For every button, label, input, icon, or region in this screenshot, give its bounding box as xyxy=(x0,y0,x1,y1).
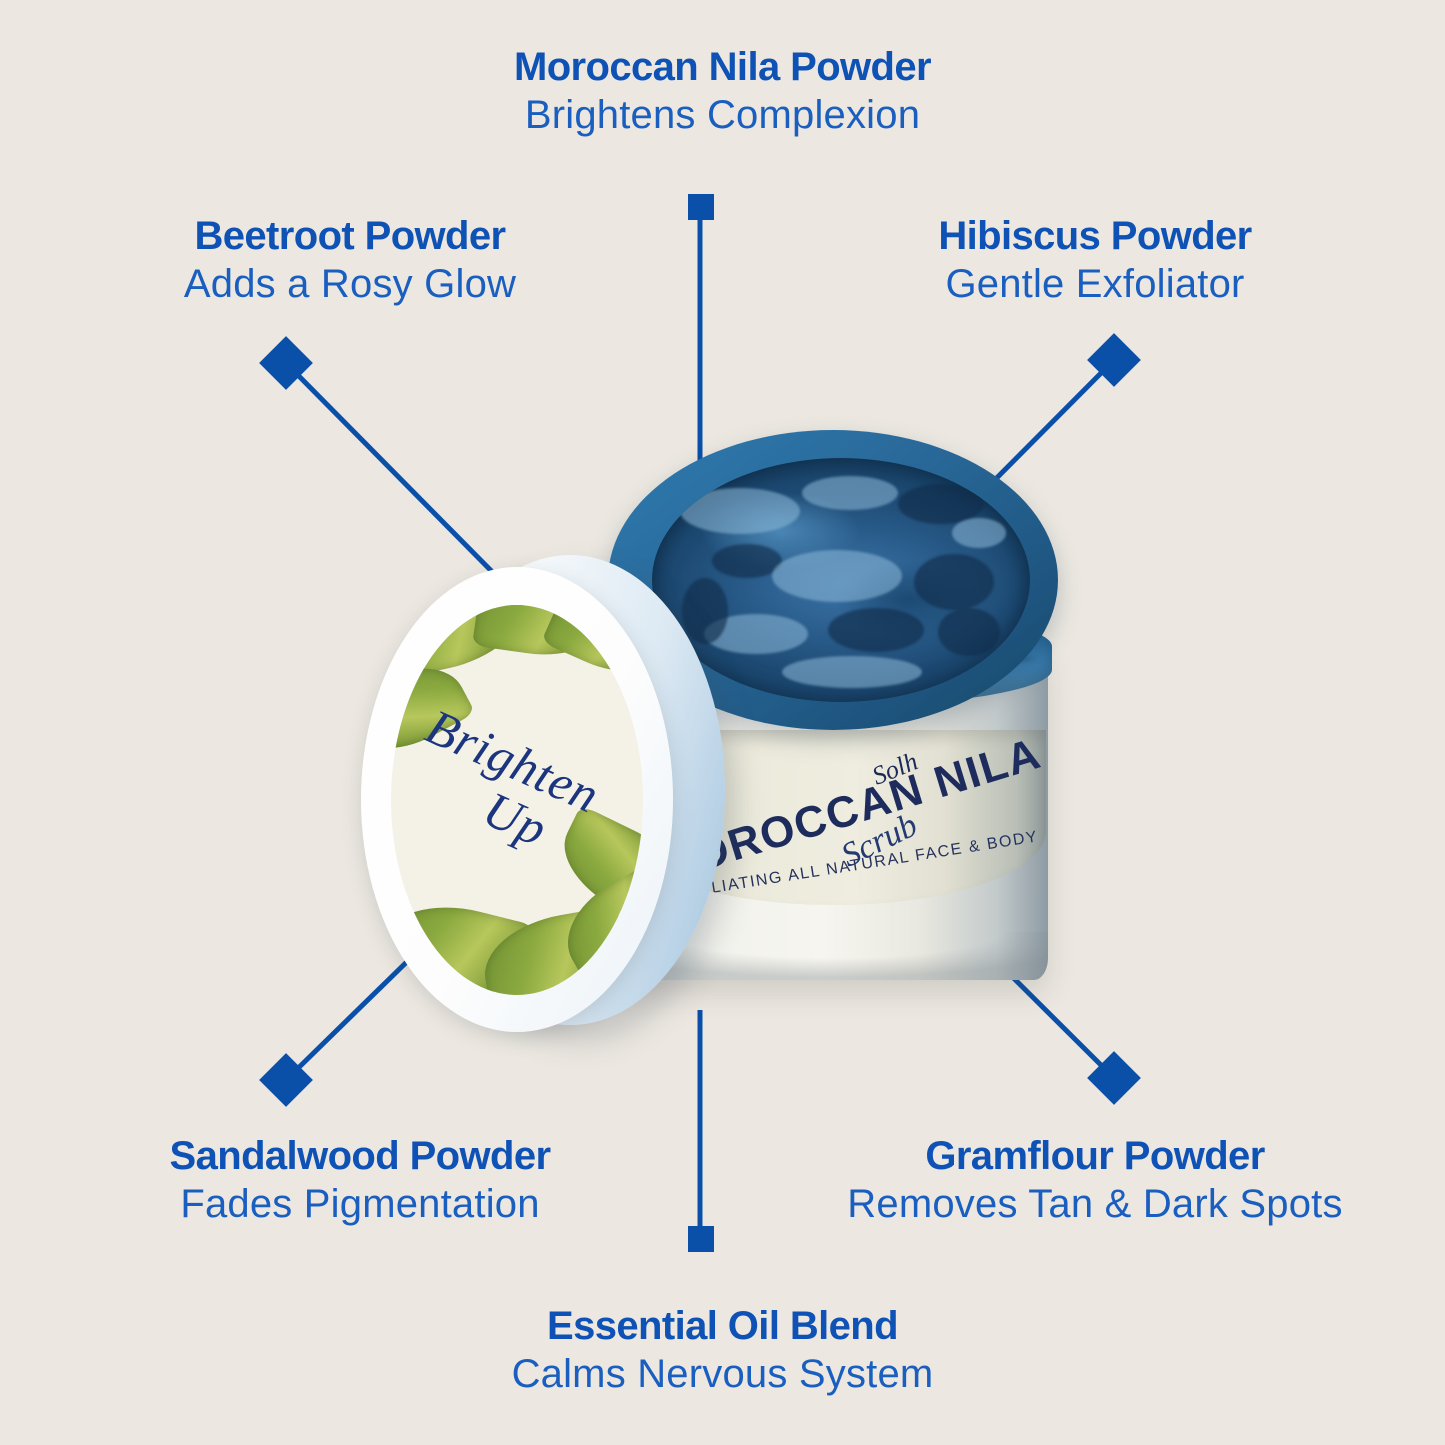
callout-sandalwood-powder: Sandalwood Powder Fades Pigmentation xyxy=(40,1135,680,1229)
connector-marker-gramflour xyxy=(1087,1051,1141,1105)
callout-title: Beetroot Powder xyxy=(50,215,650,258)
callout-title: Moroccan Nila Powder xyxy=(514,46,931,89)
callout-hibiscus-powder: Hibiscus Powder Gentle Exfoliator xyxy=(795,215,1395,309)
callout-title: Hibiscus Powder xyxy=(795,215,1395,258)
leaf-icon xyxy=(547,805,643,936)
jar-rim xyxy=(608,430,1058,730)
leaf-icon xyxy=(477,905,631,995)
infographic-canvas: Solh MOROCCAN NILA Scrub EXFOLIATING ALL… xyxy=(0,0,1445,1445)
leaf-icon xyxy=(391,890,537,995)
callout-subtitle: Brightens Complexion xyxy=(514,91,931,140)
jar-product-name: MOROCCAN NILA xyxy=(651,730,1046,893)
callout-subtitle: Calms Nervous System xyxy=(512,1350,934,1399)
connector-marker-nila xyxy=(688,194,714,220)
connector-line-hibiscus xyxy=(940,360,1114,535)
jar-tagline-text: EXFOLIATING ALL NATURAL FACE & BODY xyxy=(661,828,1040,905)
leaf-icon xyxy=(550,864,643,986)
jar-script-text: Scrub xyxy=(836,807,924,876)
jar-brand-text: Solh xyxy=(868,746,922,791)
callout-beetroot-powder: Beetroot Powder Adds a Rosy Glow xyxy=(50,215,650,309)
leaf-icon xyxy=(391,648,475,769)
connector-marker-beetroot xyxy=(259,336,313,390)
callout-moroccan-nila-powder: Moroccan Nila Powder Brightens Complexio… xyxy=(514,46,931,140)
callout-subtitle: Removes Tan & Dark Spots xyxy=(775,1180,1415,1229)
callout-title: Sandalwood Powder xyxy=(40,1135,680,1178)
callout-subtitle: Gentle Exfoliator xyxy=(795,260,1395,309)
connector-marker-hibiscus xyxy=(1087,333,1141,387)
callout-subtitle: Fades Pigmentation xyxy=(40,1180,680,1229)
callout-subtitle: Adds a Rosy Glow xyxy=(50,260,650,309)
jar-lid: Brighten Up xyxy=(355,545,745,1045)
connector-marker-essential xyxy=(688,1226,714,1252)
jar-body xyxy=(618,645,1048,980)
lid-script-line-2: Up xyxy=(478,785,628,886)
connector-line-gramflour xyxy=(925,890,1114,1078)
lid-label: Brighten Up xyxy=(391,605,643,995)
connector-line-beetroot xyxy=(286,363,520,600)
jar-shoulder xyxy=(614,610,1052,706)
jar-label: Solh MOROCCAN NILA Scrub EXFOLIATING ALL… xyxy=(622,730,1046,905)
leaf-icon xyxy=(541,605,643,690)
connector-marker-sandalwood xyxy=(259,1053,313,1107)
connector-line-sandalwood xyxy=(286,900,470,1080)
lid-side-wall xyxy=(415,555,725,1025)
leaf-icon xyxy=(391,605,532,682)
callout-essential-oil-blend: Essential Oil Blend Calms Nervous System xyxy=(512,1305,934,1399)
lid-script-text: Brighten Up xyxy=(399,702,643,885)
lid-script-line-1: Brighten xyxy=(418,698,608,824)
leaf-icon xyxy=(472,605,614,664)
callout-gramflour-powder: Gramflour Powder Removes Tan & Dark Spot… xyxy=(775,1135,1415,1229)
scrub-jar: Solh MOROCCAN NILA Scrub EXFOLIATING ALL… xyxy=(600,430,1070,990)
blue-scrub-paste xyxy=(652,458,1030,702)
lid-face: Brighten Up xyxy=(361,567,673,1032)
callout-title: Essential Oil Blend xyxy=(512,1305,934,1348)
callout-title: Gramflour Powder xyxy=(775,1135,1415,1178)
